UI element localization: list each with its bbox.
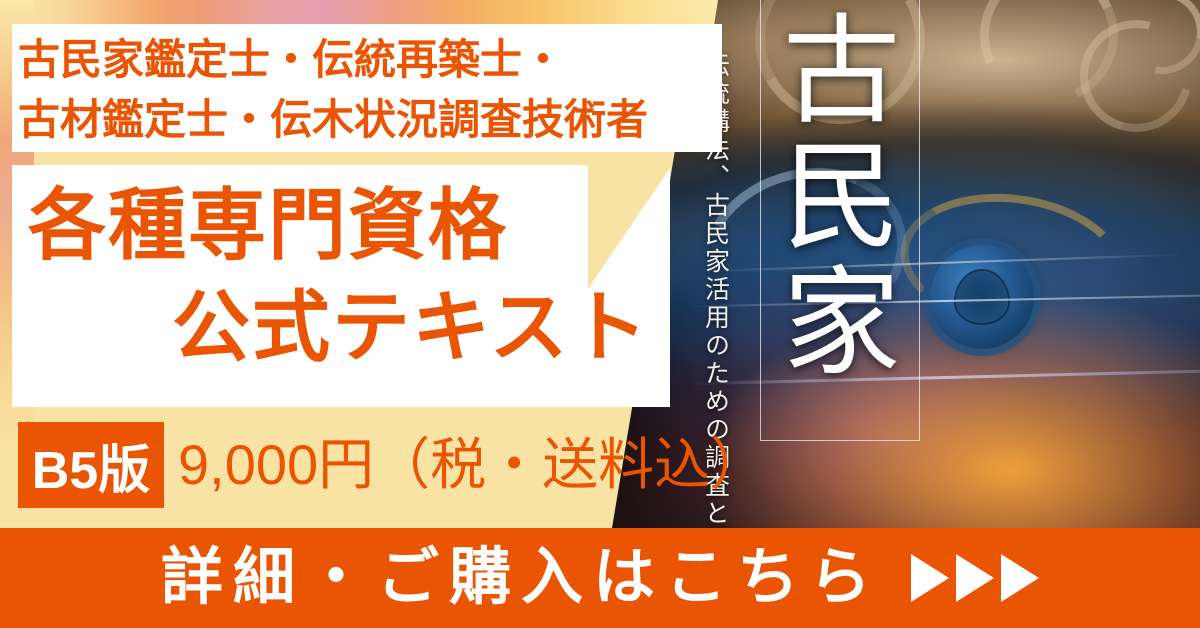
cta-label: 詳細・ご購入はこちら [161,547,881,609]
chevron-right-icon [956,554,994,602]
promotional-banner: 伝統構法、古民家活用のための調査と再生の 古民家 古民家鑑定士・伝統再築士・ 古… [0,0,1200,628]
chevron-right-icon [911,554,949,602]
headline-line-1: 各種専門資格 [28,186,508,264]
cta-bar[interactable]: 詳細・ご購入はこちら [0,528,1200,628]
qualification-line-1: 古民家鑑定士・伝統再築士・ [18,30,718,90]
carved-swirl-ornament-icon [1060,0,1200,152]
headline-line-2: 公式テキスト [172,288,650,366]
carved-swirl-ornament-icon [1104,0,1200,90]
carved-swirl-ornament-icon [961,0,1138,123]
family-crest-medallion-icon [930,245,1034,349]
cta-arrows [911,554,1039,602]
qualification-line-2: 古材鑑定士・伝木状況調査技術者 [18,90,718,150]
format-badge: B5版 [18,422,164,508]
qualification-list: 古民家鑑定士・伝統再築士・ 古材鑑定士・伝木状況調査技術者 [18,30,718,150]
price-text: 9,000円（税・送料込） [178,428,766,502]
chevron-right-icon [1001,554,1039,602]
book-cover-title: 古民家 [776,8,902,386]
